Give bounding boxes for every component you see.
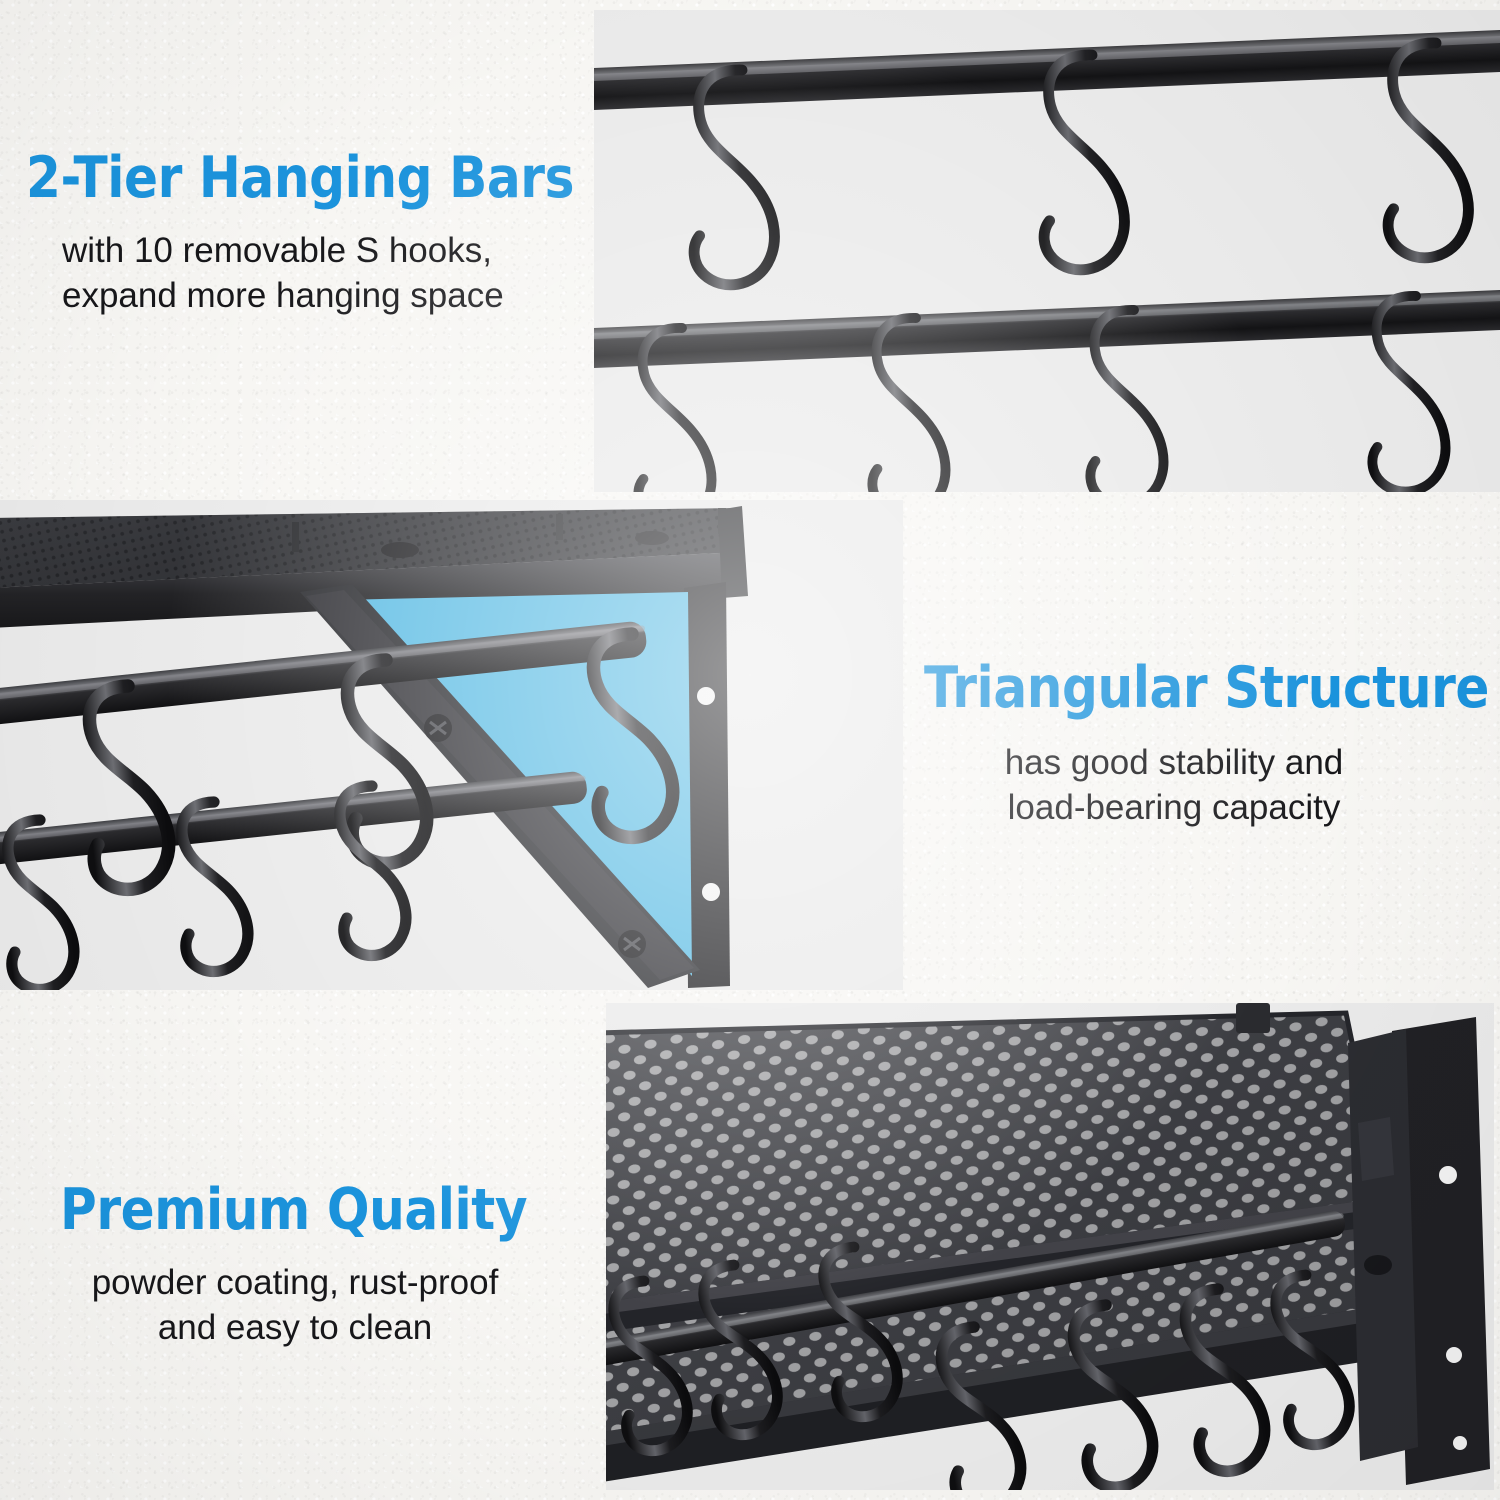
- photo-hanging-bars: [594, 10, 1500, 492]
- feature-subtext-triangular-structure: has good stability and load-bearing capa…: [934, 741, 1414, 831]
- feature-hanging-bars: 2-Tier Hanging Bars with 10 removable S …: [26, 150, 571, 319]
- feature-subtext-hanging-bars: with 10 removable S hooks, expand more h…: [62, 229, 571, 319]
- feature-triangular-structure: Triangular Structure has good stability …: [924, 660, 1480, 831]
- feature-subtext-premium-quality: powder coating, rust-proof and easy to c…: [60, 1261, 530, 1351]
- photo-perforated-shelf: [606, 1003, 1494, 1490]
- photo-triangular-bracket: [0, 500, 903, 990]
- feature-premium-quality: Premium Quality powder coating, rust-pro…: [60, 1182, 580, 1351]
- feature-headline-premium-quality: Premium Quality: [60, 1182, 518, 1239]
- feature-headline-triangular-structure: Triangular Structure: [924, 660, 1413, 717]
- feature-headline-hanging-bars: 2-Tier Hanging Bars: [26, 150, 506, 207]
